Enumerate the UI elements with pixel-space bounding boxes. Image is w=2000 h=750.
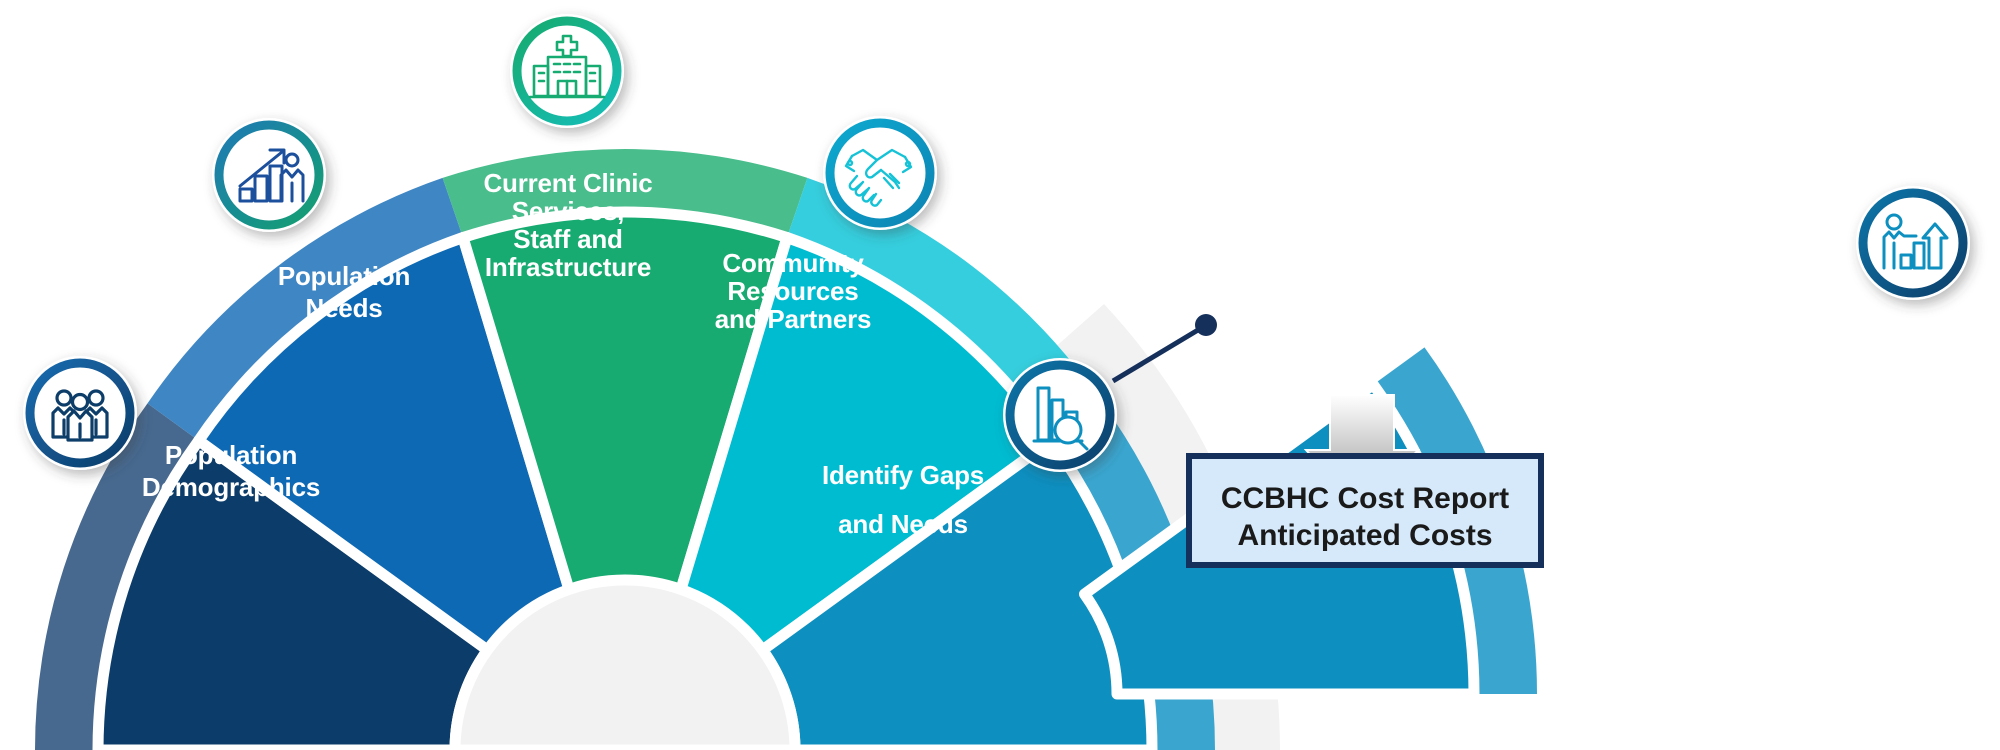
- icon-badge-population-needs[interactable]: [212, 118, 326, 232]
- label-population-needs-line1: Population: [278, 261, 410, 291]
- label-outcome-box-line2: Anticipated Costs: [1237, 519, 1492, 552]
- label-identify-gaps-line1: Identify Gaps: [822, 460, 984, 490]
- icon-badge-identify-gaps[interactable]: [1003, 358, 1117, 472]
- infographic-canvas: Population Demographics Population Needs…: [0, 0, 2000, 750]
- label-current-clinic-services-line3: Staff and: [513, 224, 622, 254]
- icon-badge-population-demographics[interactable]: [23, 356, 137, 470]
- leader-line-dot: [1195, 314, 1217, 336]
- label-population-demographics-line2: Demographics: [142, 472, 320, 502]
- label-identify-gaps-line2: and Needs: [838, 509, 968, 539]
- label-community-resources-line2: Resources: [727, 276, 858, 306]
- label-community-resources-line1: Community: [722, 248, 864, 278]
- label-current-clinic-services-line4: Infrastructure: [485, 252, 651, 282]
- label-outcome-box-line1: CCBHC Cost Report: [1221, 482, 1509, 515]
- label-current-clinic-services-line1: Current Clinic: [483, 168, 652, 198]
- label-quantify-gaps-line1: Quantify Gaps: [1262, 266, 1437, 296]
- radial-fan-diagram: Population Demographics Population Needs…: [0, 0, 2000, 750]
- label-quantify-gaps-line2: and Needs: [1285, 296, 1415, 326]
- label-community-resources-line3: and Partners: [715, 304, 872, 334]
- label-population-demographics-line1: Population: [165, 440, 297, 470]
- label-population-needs-line2: Needs: [305, 293, 382, 323]
- label-current-clinic-services-line2: Services,: [512, 196, 624, 226]
- icon-badge-community-resources[interactable]: [823, 116, 937, 230]
- icon-badge-current-clinic-services[interactable]: [510, 14, 624, 128]
- icon-badge-quantify-gaps[interactable]: [1856, 186, 1970, 300]
